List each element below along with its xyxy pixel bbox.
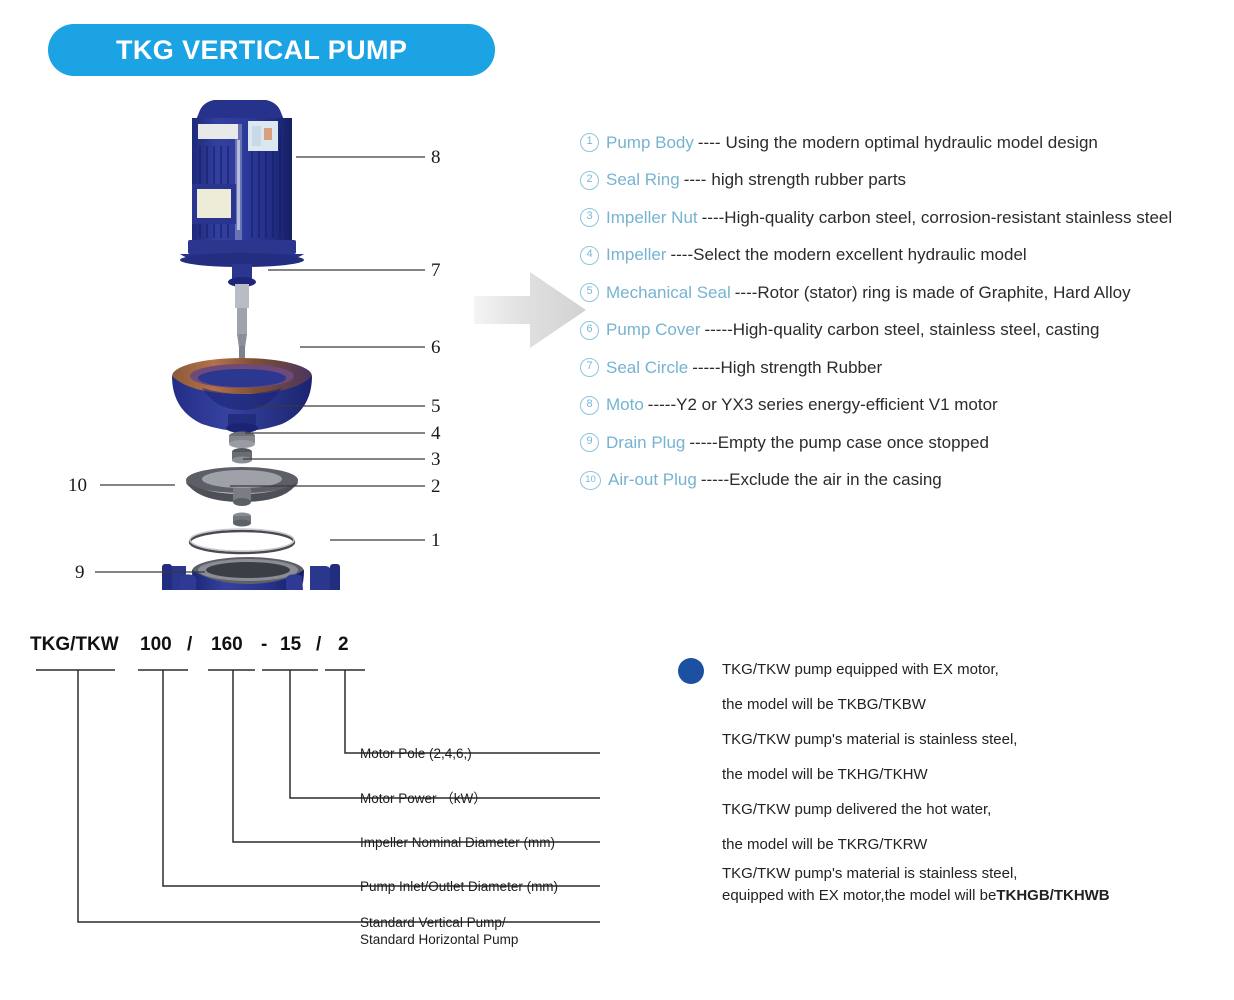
circled-number-icon: 2 [580, 171, 599, 190]
callout-number-1: 1 [431, 531, 441, 550]
callout-number-4: 4 [431, 424, 441, 443]
legend-item-desc: high strength rubber parts [711, 170, 906, 190]
legend-item-dash: ----- [704, 320, 732, 340]
legend-item-9: 9 Drain Plug ----- Empty the pump case o… [580, 424, 1230, 462]
model-label-standard-horizontal: Standard Horizontal Pump [360, 931, 518, 948]
callout-number-2: 2 [431, 477, 441, 496]
legend-item-dash: ---- [698, 133, 721, 153]
legend-item-name: Drain Plug [606, 433, 685, 453]
callout-leader-lines [0, 0, 520, 620]
legend-item-dash: ----- [701, 470, 729, 490]
bullet-dot-icon [678, 658, 704, 684]
model-label-impeller-dia: Impeller Nominal Diameter (mm) [360, 834, 555, 851]
legend-item-name: Pump Cover [606, 320, 700, 340]
circled-number-icon: 8 [580, 396, 599, 415]
note-line: the model will be TKBG/TKBW [722, 687, 1218, 722]
legend-item-desc: Empty the pump case once stopped [718, 433, 989, 453]
legend-item-desc: High-quality carbon steel, stainless ste… [733, 320, 1100, 340]
circled-number-icon: 9 [580, 433, 599, 452]
legend-item-dash: ---- [684, 170, 707, 190]
circled-number-icon: 6 [580, 321, 599, 340]
callout-number-8: 8 [431, 148, 441, 167]
callout-number-9: 9 [75, 563, 85, 582]
legend-item-name: Pump Body [606, 133, 694, 153]
legend-item-dash: ---- [670, 245, 693, 265]
legend-item-name: Air-out Plug [608, 470, 697, 490]
legend-item-desc: Rotor (stator) ring is made of Graphite,… [757, 283, 1130, 303]
legend-item-7: 7 Seal Circle ----- High strength Rubber [580, 349, 1230, 387]
note-line: the model will be TKHG/TKHW [722, 757, 1218, 792]
legend-item-dash: ----- [648, 395, 676, 415]
model-label-motor-pole: Motor Pole (2,4,6,) [360, 745, 472, 762]
circled-number-icon: 10 [580, 471, 601, 490]
model-label-motor-power: Motor Power （kW） [360, 790, 487, 807]
circled-number-icon: 7 [580, 358, 599, 377]
circled-number-icon: 3 [580, 208, 599, 227]
legend-item-name: Moto [606, 395, 644, 415]
callout-number-7: 7 [431, 261, 441, 280]
legend-item-desc: Y2 or YX3 series energy-efficient V1 mot… [676, 395, 998, 415]
legend-item-desc: Select the modern excellent hydraulic mo… [693, 245, 1027, 265]
model-code-breakdown: TKG/TKW 100 / 160 - 15 / 2 [0, 620, 600, 950]
circled-number-icon: 1 [580, 133, 599, 152]
legend-item-name: Mechanical Seal [606, 283, 731, 303]
note-line-last: equipped with EX motor,the model will be… [722, 884, 1218, 906]
model-label-standard-vertical: Standard Vertical Pump/ [360, 914, 506, 931]
note-text: equipped with EX motor,the model will be [722, 887, 996, 904]
legend-item-name: Seal Ring [606, 170, 680, 190]
note-line: TKG/TKW pump's material is stainless ste… [722, 862, 1218, 884]
legend-item-dash: ----- [692, 358, 720, 378]
callout-number-10: 10 [68, 476, 87, 495]
legend-item-1: 1 Pump Body ---- Using the modern optima… [580, 124, 1230, 162]
callout-number-3: 3 [431, 450, 441, 469]
note-line: TKG/TKW pump equipped with EX motor, [722, 652, 1218, 687]
legend-item-dash: ---- [735, 283, 758, 303]
note-line: TKG/TKW pump delivered the hot water, [722, 792, 1218, 827]
right-arrow-icon [474, 258, 590, 362]
callout-number-5: 5 [431, 397, 441, 416]
legend-item-3: 3 Impeller Nut ---- High-quality carbon … [580, 199, 1230, 237]
legend-item-dash: ---- [702, 208, 725, 228]
legend-item-10: 10 Air-out Plug ----- Exclude the air in… [580, 462, 1230, 500]
legend-item-4: 4 Impeller ---- Select the modern excell… [580, 237, 1230, 275]
legend-item-desc: Using the modern optimal hydraulic model… [726, 133, 1098, 153]
legend-item-name: Impeller Nut [606, 208, 698, 228]
callout-number-6: 6 [431, 338, 441, 357]
legend-item-desc: High-quality carbon steel, corrosion-res… [724, 208, 1172, 228]
legend-item-2: 2 Seal Ring ---- high strength rubber pa… [580, 162, 1230, 200]
note-model-bold: TKHGB/TKHWB [996, 887, 1109, 904]
note-line: the model will be TKRG/TKRW [722, 827, 1218, 862]
legend-item-desc: High strength Rubber [721, 358, 883, 378]
parts-legend-list: 1 Pump Body ---- Using the modern optima… [580, 124, 1230, 499]
poster-canvas: TKG VERTICAL PUMP [0, 0, 1234, 1000]
legend-item-desc: Exclude the air in the casing [729, 470, 942, 490]
circled-number-icon: 5 [580, 283, 599, 302]
legend-item-dash: ----- [689, 433, 717, 453]
legend-item-8: 8 Moto ----- Y2 or YX3 series energy-eff… [580, 387, 1230, 425]
legend-item-6: 6 Pump Cover ----- High-quality carbon s… [580, 312, 1230, 350]
legend-item-5: 5 Mechanical Seal ---- Rotor (stator) ri… [580, 274, 1230, 312]
model-label-inlet-outlet: Pump Inlet/Outlet Diameter (mm) [360, 878, 558, 895]
legend-item-name: Seal Circle [606, 358, 688, 378]
note-line: TKG/TKW pump's material is stainless ste… [722, 722, 1218, 757]
model-variant-notes: TKG/TKW pump equipped with EX motor, the… [678, 652, 1218, 906]
circled-number-icon: 4 [580, 246, 599, 265]
model-code-brackets [0, 620, 600, 950]
legend-item-name: Impeller [606, 245, 666, 265]
